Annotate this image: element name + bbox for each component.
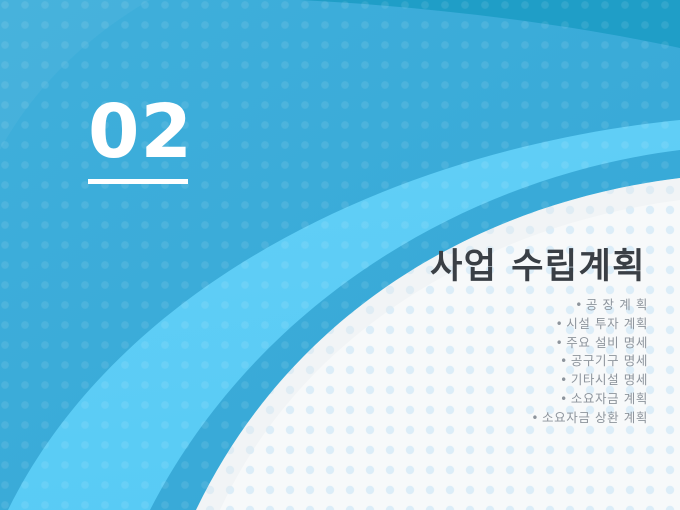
section-number-block: 02: [88, 96, 193, 184]
list-item: •소요자금 상환 계획: [531, 409, 648, 428]
bullet-marker-icon: •: [556, 317, 564, 331]
list-item-label: 공 장 계 획: [586, 297, 648, 312]
bullet-marker-icon: •: [560, 373, 568, 387]
list-item: •주요 설비 명세: [531, 334, 648, 353]
list-item: •소요자금 계획: [531, 390, 648, 409]
list-item-label: 기타시설 명세: [571, 372, 648, 387]
list-item-label: 공구기구 명세: [571, 353, 648, 368]
list-item: •기타시설 명세: [531, 371, 648, 390]
section-number-underline: [88, 179, 188, 184]
slide-title: 사업 수립계획: [430, 238, 646, 289]
list-item: •공구기구 명세: [531, 352, 648, 371]
presentation-slide: 02 사업 수립계획 •공 장 계 획 •시설 투자 계획 •주요 설비 명세 …: [0, 0, 680, 510]
bullet-marker-icon: •: [556, 336, 564, 350]
list-item: •공 장 계 획: [531, 296, 648, 315]
list-item-label: 주요 설비 명세: [566, 335, 648, 350]
list-item-label: 소요자금 상환 계획: [542, 410, 648, 425]
list-item-label: 시설 투자 계획: [566, 316, 648, 331]
list-item: •시설 투자 계획: [531, 315, 648, 334]
section-number: 02: [88, 96, 193, 169]
bullet-marker-icon: •: [560, 392, 568, 406]
bullet-marker-icon: •: [531, 411, 539, 425]
bullet-marker-icon: •: [560, 354, 568, 368]
agenda-list: •공 장 계 획 •시설 투자 계획 •주요 설비 명세 •공구기구 명세 •기…: [531, 296, 648, 428]
list-item-label: 소요자금 계획: [571, 391, 648, 406]
bullet-marker-icon: •: [575, 298, 583, 312]
